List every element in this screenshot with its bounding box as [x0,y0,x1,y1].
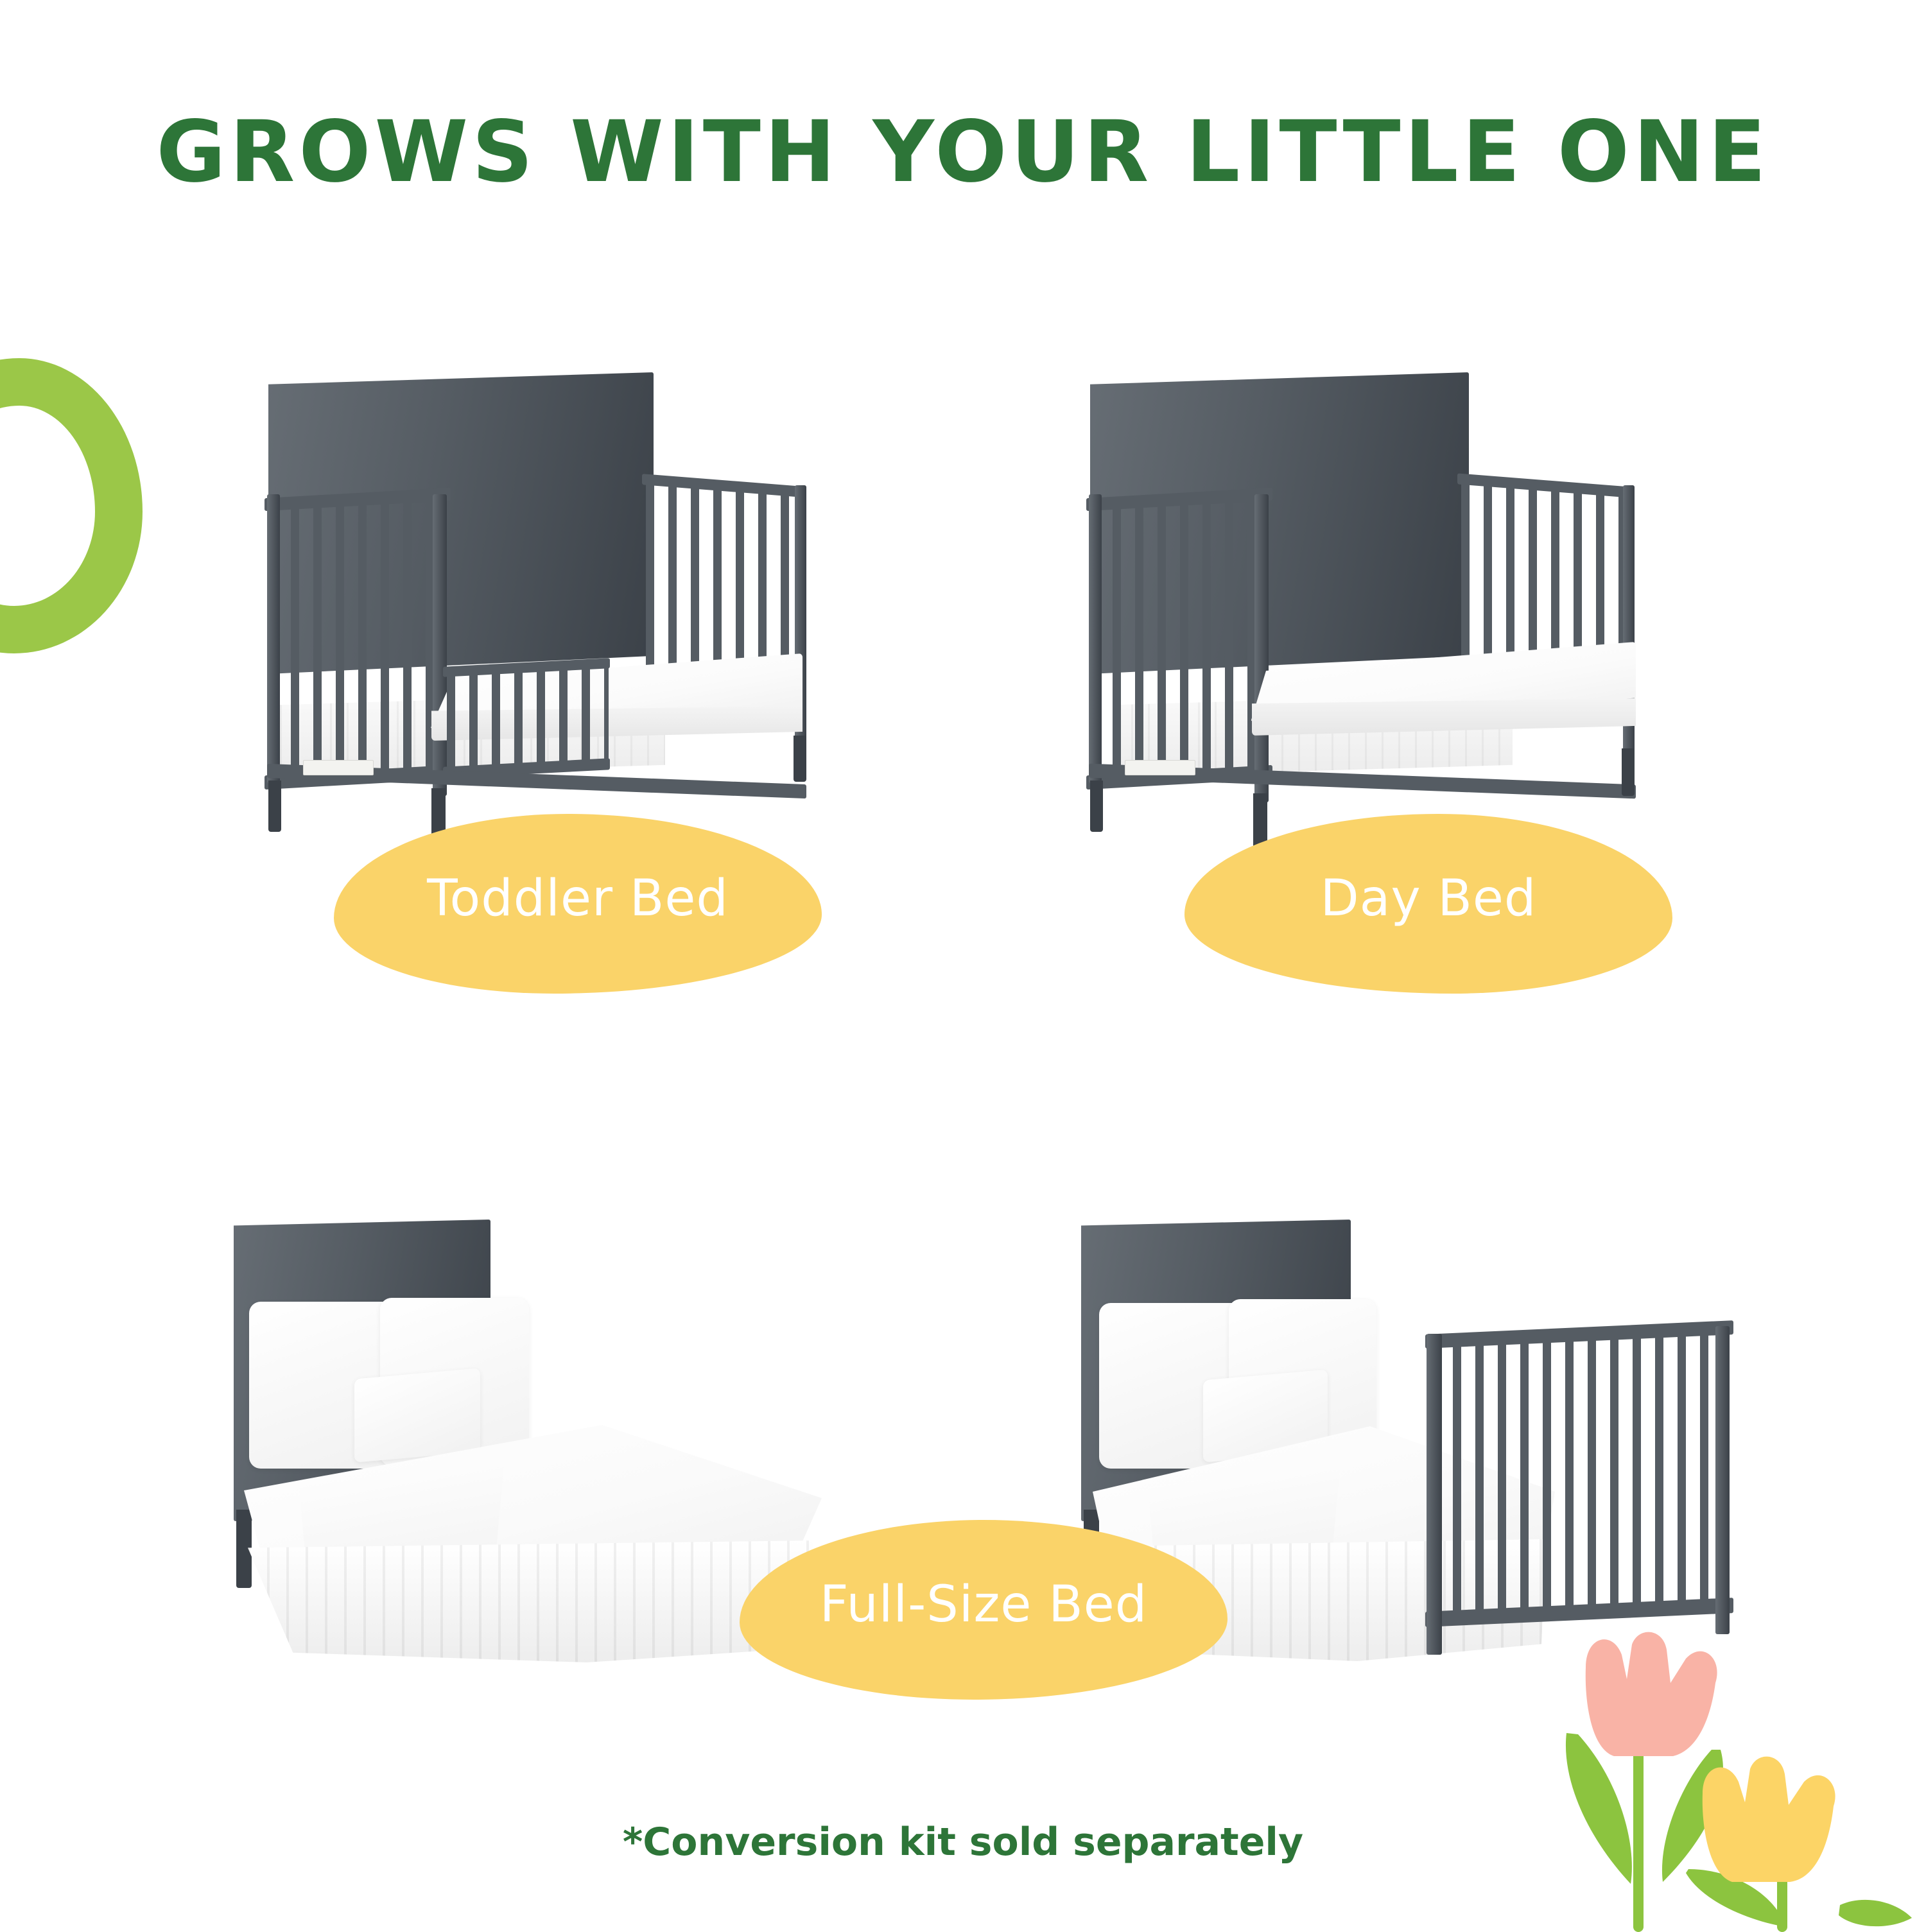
left-front-post [433,494,447,796]
infographic-canvas: GROWS WITH YOUR LITTLE ONE [0,0,1926,1926]
toddler-bed-illustration [257,372,835,847]
left-back-post [267,494,280,783]
stem-pink [1633,1747,1644,1932]
pillow-accent [354,1368,480,1462]
safety-label [1125,760,1195,775]
leg-front-left [268,781,281,832]
lime-ring-decoration [0,358,143,653]
left-slat-panel [1090,496,1269,788]
label-text-day-bed: Day Bed [1321,870,1537,927]
leg-front-left [1090,781,1103,832]
safety-label [303,760,374,775]
left-slat-panel [268,496,447,788]
day-bed-illustration [1079,372,1656,847]
label-text-toddler-bed: Toddler Bed [427,870,729,927]
tulip-flowers-decoration [1560,1630,1926,1932]
leg-back-right [1622,748,1635,796]
pink-tulip-bloom [1586,1632,1717,1756]
left-front-post [1254,494,1269,802]
bed-skirt-ruffle [248,1540,813,1662]
leaf-yellow-right [1839,1900,1912,1926]
footboard-near-post [1427,1334,1442,1655]
mattress-side [1252,698,1636,736]
footboard-slat-panel [1430,1330,1728,1625]
label-text-full-size-bed: Full-Size Bed [820,1576,1147,1634]
yellow-tulip-bloom [1703,1757,1835,1882]
left-back-post [1089,494,1102,783]
leg-back-right [794,736,806,782]
page-title: GROWS WITH YOUR LITTLE ONE [0,103,1926,202]
footboard-far-post [1715,1326,1730,1634]
